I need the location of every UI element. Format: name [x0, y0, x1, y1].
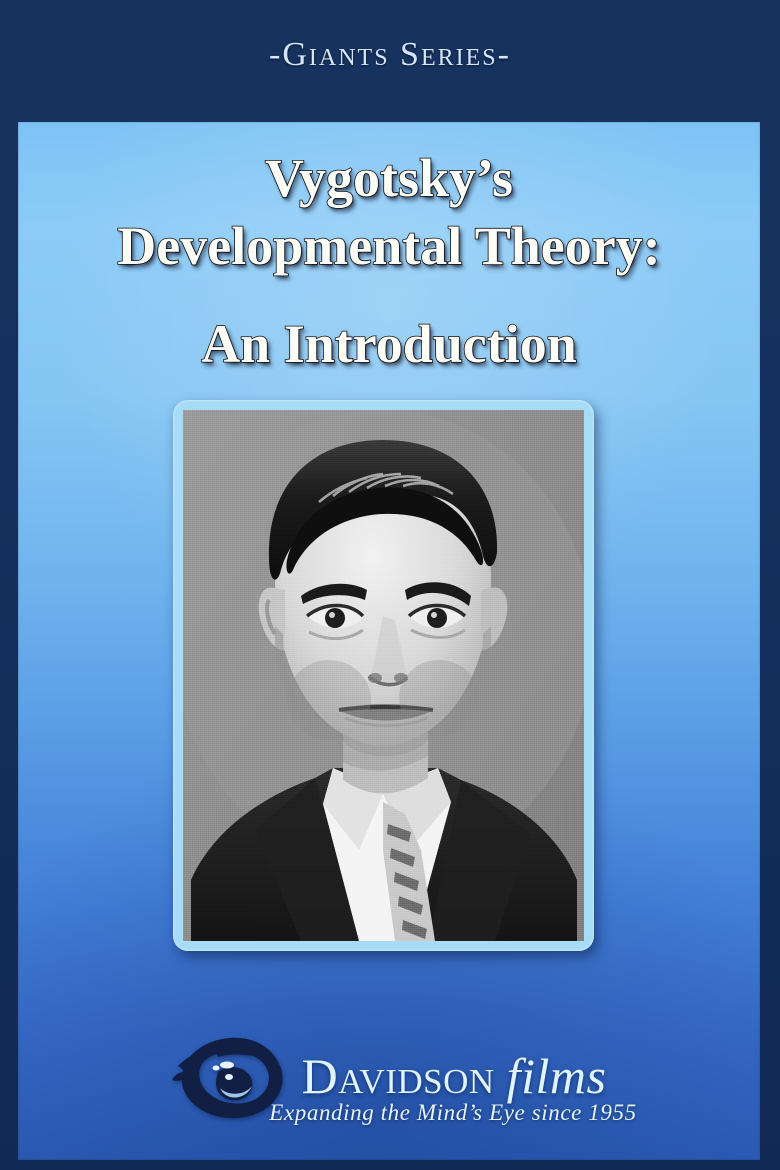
title-line-1: Vygotsky’s	[18, 144, 760, 212]
series-band: -Giants Series-	[0, 0, 780, 122]
portrait-frame	[173, 400, 594, 951]
cover-panel: Vygotsky’s Developmental Theory: An Intr…	[18, 122, 760, 1160]
portrait-photo	[183, 410, 584, 941]
brand-logo-block: Davidsonfilms Expanding the Mind’s Eye s…	[18, 1028, 760, 1148]
title-line-2: Developmental Theory:	[18, 212, 760, 280]
brand-name-davidson: Davidson	[302, 1048, 495, 1104]
title-line-3: An Introduction	[18, 310, 760, 378]
title-block: Vygotsky’s Developmental Theory: An Intr…	[18, 144, 760, 378]
portrait-illustration	[183, 410, 584, 941]
series-label: -Giants Series-	[0, 36, 780, 74]
brand-tagline: Expanding the Mind’s Eye since 1955	[18, 1100, 760, 1126]
brand-name-films: films	[507, 1048, 607, 1104]
brand-wordmark: Davidsonfilms	[302, 1047, 607, 1105]
dvd-cover: -Giants Series- Vygotsky’s Developmental…	[0, 0, 780, 1170]
